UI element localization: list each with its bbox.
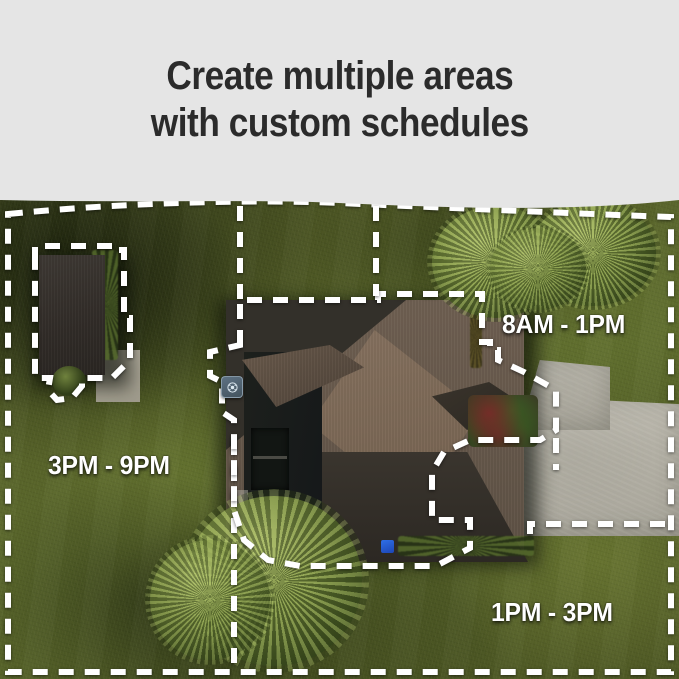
tree-top-right-c [490, 228, 586, 310]
house-entry-step [253, 456, 287, 459]
tree-top-right-c-fronds [486, 225, 590, 314]
header-banner-shape [0, 0, 679, 208]
mower-dock-icon [226, 381, 239, 394]
shed-roof-texture [39, 255, 105, 375]
house-entry-recess [251, 428, 289, 490]
mower-dock-badge[interactable] [221, 376, 243, 398]
zone-label-afternoon: 3PM - 9PM [48, 450, 170, 481]
tree-bottom-left [150, 540, 270, 660]
tree-bottom-left-fronds [145, 535, 275, 665]
planting-bed-east [468, 395, 538, 447]
zone-label-morning: 8AM - 1PM [502, 309, 625, 340]
hedge-south [398, 536, 534, 556]
blue-bin [381, 540, 394, 553]
zone-label-midday: 1PM - 3PM [491, 597, 613, 628]
shrub-below-shed [52, 366, 86, 396]
shrub-below-shed-canopy [52, 366, 86, 396]
header-banner [0, 0, 679, 220]
shed-roof [39, 255, 105, 375]
schedule-zones-illustration: 8AM - 1PM 3PM - 9PM 1PM - 3PM Create mul… [0, 0, 679, 679]
